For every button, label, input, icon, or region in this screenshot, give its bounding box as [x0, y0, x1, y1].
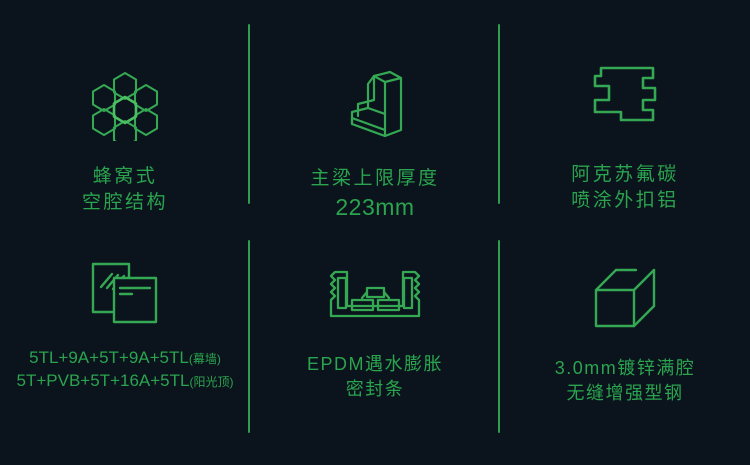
feature-label-aluminum: 阿克苏氟碳 喷涂外扣铝 — [571, 162, 679, 214]
feature-card-beam[interactable]: 主梁上限厚度 223mm — [250, 0, 500, 232]
feature-label-honeycomb: 蜂窝式 空腔结构 — [82, 164, 168, 216]
feature-label-steel: 3.0mm镀锌满腔 无缝增强型钢 — [555, 356, 696, 406]
label-line-1: EPDM遇水膨胀 — [307, 352, 443, 377]
label-line-2: 密封条 — [307, 377, 443, 402]
feature-card-honeycomb[interactable]: 蜂窝式 空腔结构 — [0, 0, 250, 232]
feature-label-beam: 主梁上限厚度 223mm — [310, 166, 439, 224]
label-line-2: 空腔结构 — [82, 190, 168, 216]
label-line-1: 主梁上限厚度 — [310, 166, 439, 192]
feature-label-glass: 5TL+9A+5T+9A+5TL(幕墙) 5T+PVB+5T+16A+5TL(阳… — [17, 346, 234, 393]
glass-panes-icon — [88, 254, 162, 334]
glass-note-skylight: (阳光顶) — [189, 375, 233, 389]
label-line-2: 喷涂外扣铝 — [571, 188, 679, 214]
feature-card-glass[interactable]: 5TL+9A+5T+9A+5TL(幕墙) 5T+PVB+5T+16A+5TL(阳… — [0, 232, 250, 465]
glass-spec-skylight: 5T+PVB+5T+16A+5TL — [17, 371, 190, 390]
feature-card-steel[interactable]: 3.0mm镀锌满腔 无缝增强型钢 — [500, 232, 750, 465]
label-line-2: 5T+PVB+5T+16A+5TL(阳光顶) — [17, 369, 234, 392]
glass-spec-curtainwall: 5TL+9A+5T+9A+5TL — [29, 348, 189, 367]
aluminum-extrusion-profile-icon — [587, 50, 663, 142]
label-line-1: 阿克苏氟碳 — [571, 162, 679, 188]
feature-label-epdm: EPDM遇水膨胀 密封条 — [307, 352, 443, 402]
label-line-1: 蜂窝式 — [82, 164, 168, 190]
l-beam-profile-icon — [344, 60, 406, 152]
label-line-2: 223mm — [310, 192, 439, 224]
feature-grid: 蜂窝式 空腔结构 主梁上 — [0, 0, 750, 465]
label-line-1: 3.0mm镀锌满腔 — [555, 356, 696, 381]
square-steel-tube-icon — [590, 258, 660, 340]
label-line-2: 无缝增强型钢 — [555, 381, 696, 406]
feature-card-aluminum[interactable]: 阿克苏氟碳 喷涂外扣铝 — [500, 0, 750, 232]
glass-note-curtainwall: (幕墙) — [189, 352, 221, 366]
label-line-1: 5TL+9A+5T+9A+5TL(幕墙) — [17, 346, 234, 369]
honeycomb-icon — [88, 60, 162, 152]
epdm-gasket-profile-icon — [323, 256, 427, 338]
feature-card-epdm[interactable]: EPDM遇水膨胀 密封条 — [250, 232, 500, 465]
